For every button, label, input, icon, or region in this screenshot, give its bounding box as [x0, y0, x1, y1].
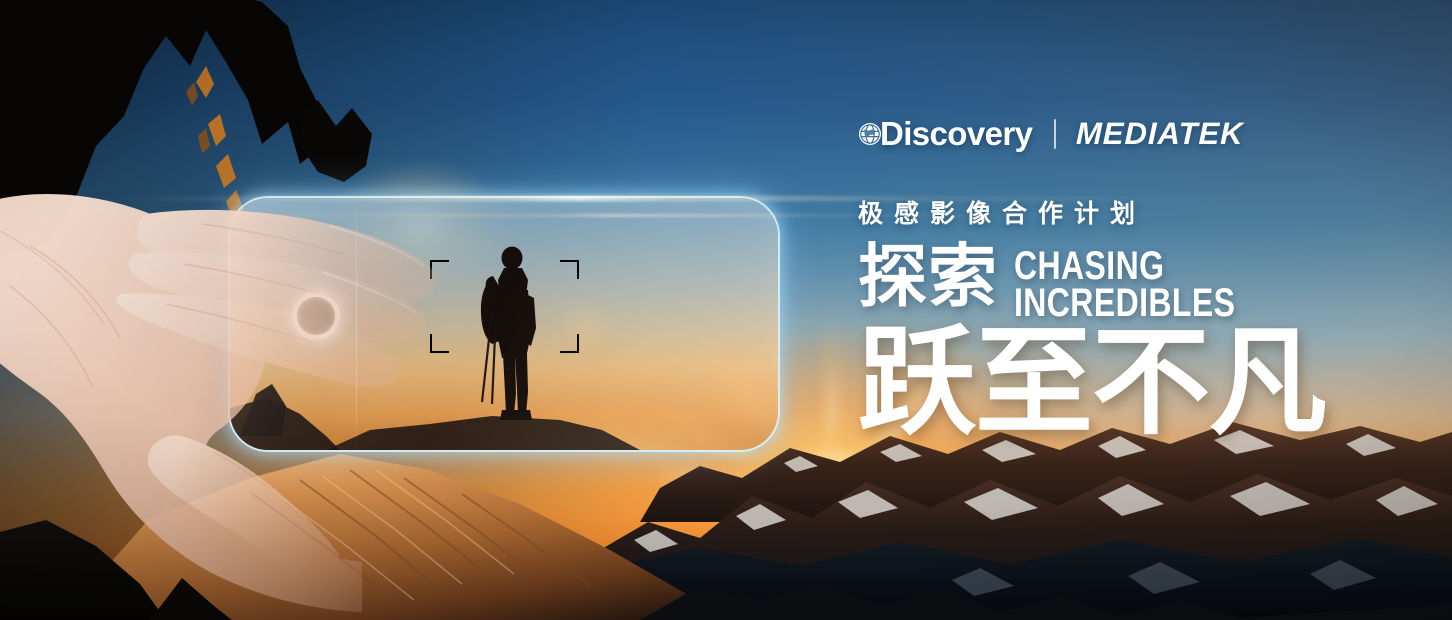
- glass-sheen: [230, 198, 778, 450]
- logo-divider: [1054, 119, 1056, 149]
- headline-en-line1: CHASING: [1014, 248, 1235, 285]
- headline-line-explore: 探索 CHASING INCREDIBLES: [858, 244, 1378, 322]
- headline-cn-main: 跃至不凡: [858, 324, 1378, 442]
- transparent-smartphone-frame: [228, 196, 780, 452]
- discovery-globe-icon: [858, 116, 883, 141]
- campaign-banner: Discovery MEDIATEK 极感影像合作计划 探索 CHASING I…: [0, 0, 1452, 620]
- headline-en-line2: INCREDIBLES: [1014, 285, 1235, 322]
- discovery-logo[interactable]: Discovery: [858, 115, 1032, 153]
- mediatek-logo[interactable]: MEDIATEK: [1076, 116, 1244, 152]
- headline-en-stack: CHASING INCREDIBLES: [1014, 248, 1235, 322]
- campaign-copy-block: Discovery MEDIATEK 极感影像合作计划 探索 CHASING I…: [858, 112, 1378, 442]
- logo-lockup: Discovery MEDIATEK: [858, 112, 1378, 156]
- campaign-subtitle: 极感影像合作计划: [858, 194, 1378, 230]
- headline-cn-explore: 探索: [858, 244, 998, 310]
- discovery-wordmark: Discovery: [880, 115, 1032, 153]
